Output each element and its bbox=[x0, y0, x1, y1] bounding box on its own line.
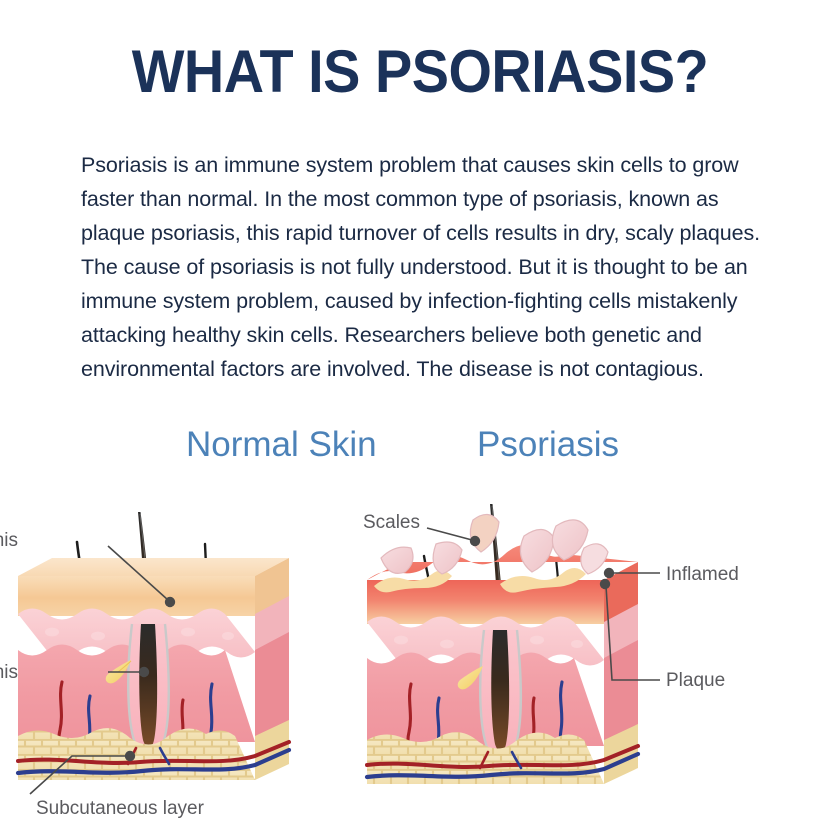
paragraph-1: Psoriasis is an immune system problem th… bbox=[81, 148, 771, 250]
hair-root bbox=[491, 630, 509, 752]
label-scales: Scales bbox=[363, 512, 420, 533]
label-plaque: Plaque bbox=[666, 670, 725, 691]
diagram-headings: Normal Skin Psoriasis bbox=[0, 422, 840, 468]
page-title: WHAT IS PSORIASIS? bbox=[29, 42, 810, 102]
heading-normal-skin: Normal Skin bbox=[186, 422, 377, 468]
normal-skin-block: Epidermis Dermis Subcutaneous layer bbox=[0, 512, 289, 819]
label-epidermis: Epidermis bbox=[0, 530, 18, 551]
infographic-page: WHAT IS PSORIASIS? Psoriasis is an immun… bbox=[0, 0, 840, 840]
skin-cross-section-diagram: Epidermis Dermis Subcutaneous layer bbox=[0, 484, 840, 820]
epidermis-top-face bbox=[18, 558, 289, 576]
label-dermis: Dermis bbox=[0, 662, 18, 683]
body-copy: Psoriasis is an immune system problem th… bbox=[81, 148, 771, 386]
epidermis-front-face bbox=[18, 576, 255, 616]
hair-root bbox=[139, 624, 157, 748]
psoriasis-skin-block: Scales Inflamed Plaque bbox=[363, 504, 739, 784]
heading-psoriasis: Psoriasis bbox=[477, 422, 619, 468]
label-inflamed: Inflamed bbox=[666, 564, 739, 585]
label-subcutaneous-layer: Subcutaneous layer bbox=[36, 798, 205, 819]
paragraph-2: The cause of psoriasis is not fully unde… bbox=[81, 250, 771, 386]
